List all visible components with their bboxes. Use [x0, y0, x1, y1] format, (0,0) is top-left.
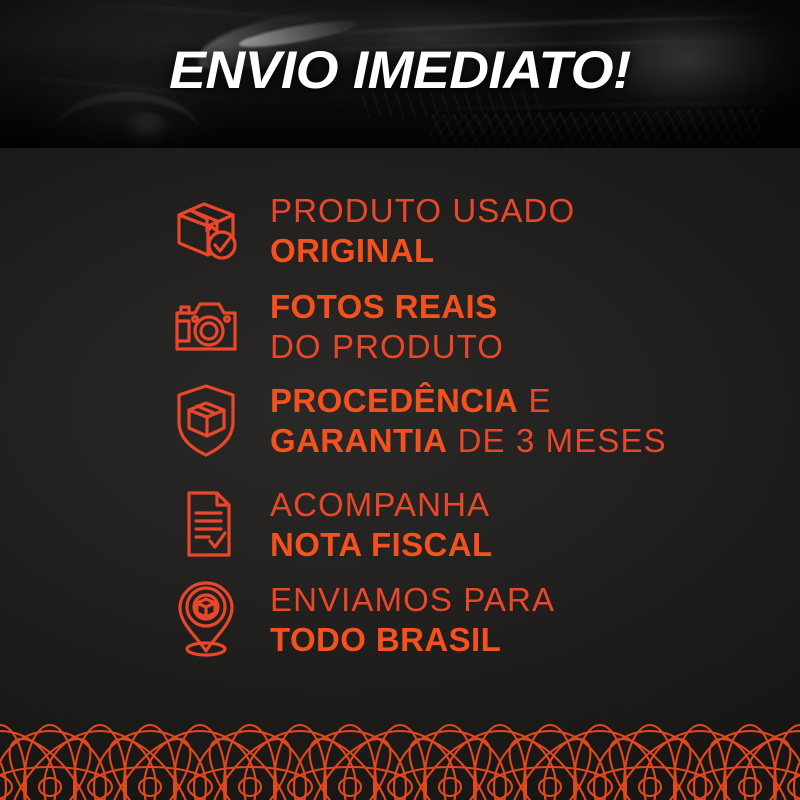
feature-line-1-thin: E: [518, 382, 551, 419]
feature-line-1: PROCEDÊNCIA E: [270, 384, 667, 417]
feature-text: PRODUTO USADO ORIGINAL: [270, 194, 575, 267]
feature-line-1: PRODUTO USADO: [270, 194, 575, 227]
feature-line-2: ORIGINAL: [270, 234, 575, 267]
feature-line-2: GARANTIA DE 3 MESES: [270, 424, 667, 457]
feature-line-2: NOTA FISCAL: [270, 528, 493, 561]
shield-box-icon: [160, 380, 252, 460]
banner-header: ENVIO IMEDIATO!: [0, 0, 800, 148]
feature-line-2-thin: DE 3 MESES: [447, 422, 666, 459]
feature-line-2: TODO BRASIL: [270, 623, 555, 656]
feature-item-todo-brasil: ENVIAMOS PARA TODO BRASIL: [160, 573, 555, 665]
invoice-check-icon: [160, 485, 252, 563]
decorative-border-pattern: [0, 695, 800, 800]
feature-text: ENVIAMOS PARA TODO BRASIL: [270, 583, 555, 656]
feature-list: PRODUTO USADO ORIGINAL FOTOS REAIS DO: [0, 148, 800, 693]
feature-text: FOTOS REAIS DO PRODUTO: [270, 290, 504, 363]
feature-line-2: DO PRODUTO: [270, 330, 504, 363]
feature-item-produto-usado: PRODUTO USADO ORIGINAL: [160, 184, 575, 276]
promo-banner: ENVIO IMEDIATO! PRODUTO USADO ORIGINAL: [0, 0, 800, 800]
feature-line-1: FOTOS REAIS: [270, 290, 504, 323]
feature-item-procedencia-garantia: PROCEDÊNCIA E GARANTIA DE 3 MESES: [160, 374, 667, 466]
feature-line-1-bold: PROCEDÊNCIA: [270, 382, 518, 419]
feature-line-1: ACOMPANHA: [270, 488, 493, 521]
feature-text: ACOMPANHA NOTA FISCAL: [270, 488, 493, 561]
feature-line-2-bold: GARANTIA: [270, 422, 447, 459]
location-pin-box-icon: [160, 577, 252, 661]
feature-text: PROCEDÊNCIA E GARANTIA DE 3 MESES: [270, 384, 667, 457]
camera-icon: [160, 291, 252, 361]
feature-line-1: ENVIAMOS PARA: [270, 583, 555, 616]
page-title: ENVIO IMEDIATO!: [0, 44, 800, 97]
feature-item-fotos-reais: FOTOS REAIS DO PRODUTO: [160, 280, 504, 372]
feature-item-nota-fiscal: ACOMPANHA NOTA FISCAL: [160, 478, 493, 570]
box-check-icon: [160, 193, 252, 267]
